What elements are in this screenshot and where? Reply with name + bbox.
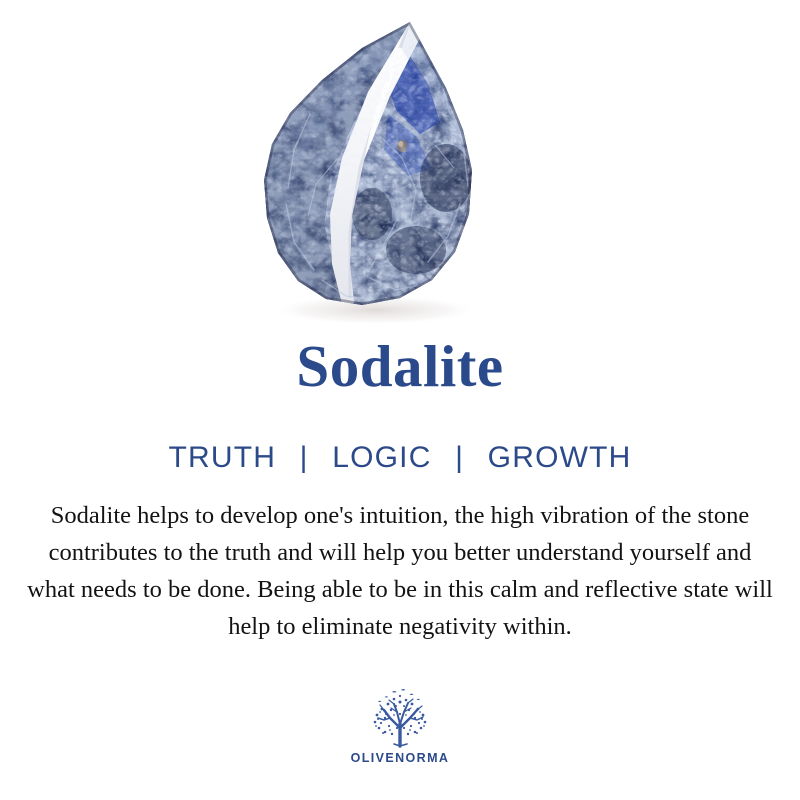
keyword-logic: LOGIC [332,441,431,474]
description-text: Sodalite helps to develop one's intuitio… [22,497,778,645]
brand-wordmark: OLIVENORMA [0,751,800,765]
keyword-list: TRUTH | LOGIC | GROWTH [0,440,800,476]
crystal-info-card: Sodalite TRUTH | LOGIC | GROWTH Sodalite… [0,0,800,800]
brand-logo: OLIVENORMA [0,688,800,765]
keyword-truth: TRUTH [168,441,276,474]
page-title: Sodalite [0,333,800,399]
keyword-growth: GROWTH [488,441,632,474]
keyword-separator-2: | [441,440,478,476]
keyword-separator-1: | [286,440,323,476]
sodalite-crystal-point-icon [250,18,550,330]
tree-of-life-icon [364,688,436,750]
crystal-body [250,18,550,330]
product-image [0,18,800,330]
